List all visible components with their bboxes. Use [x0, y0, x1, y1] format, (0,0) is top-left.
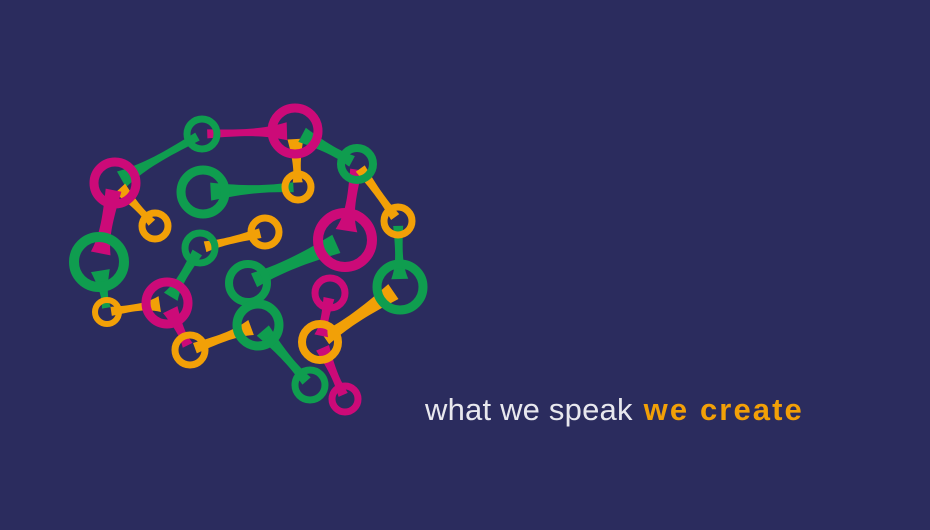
brain-nodes: [74, 108, 423, 412]
brain-node-n7: [142, 213, 168, 239]
tagline-bold-text: we create: [644, 392, 804, 428]
brain-network-logo: [55, 90, 445, 435]
tagline: what we speak we create: [425, 388, 804, 432]
tagline-light-text: what we speak: [425, 392, 633, 428]
logo-canvas: what we speak we create: [0, 0, 930, 530]
brain-node-n21: [295, 370, 325, 400]
